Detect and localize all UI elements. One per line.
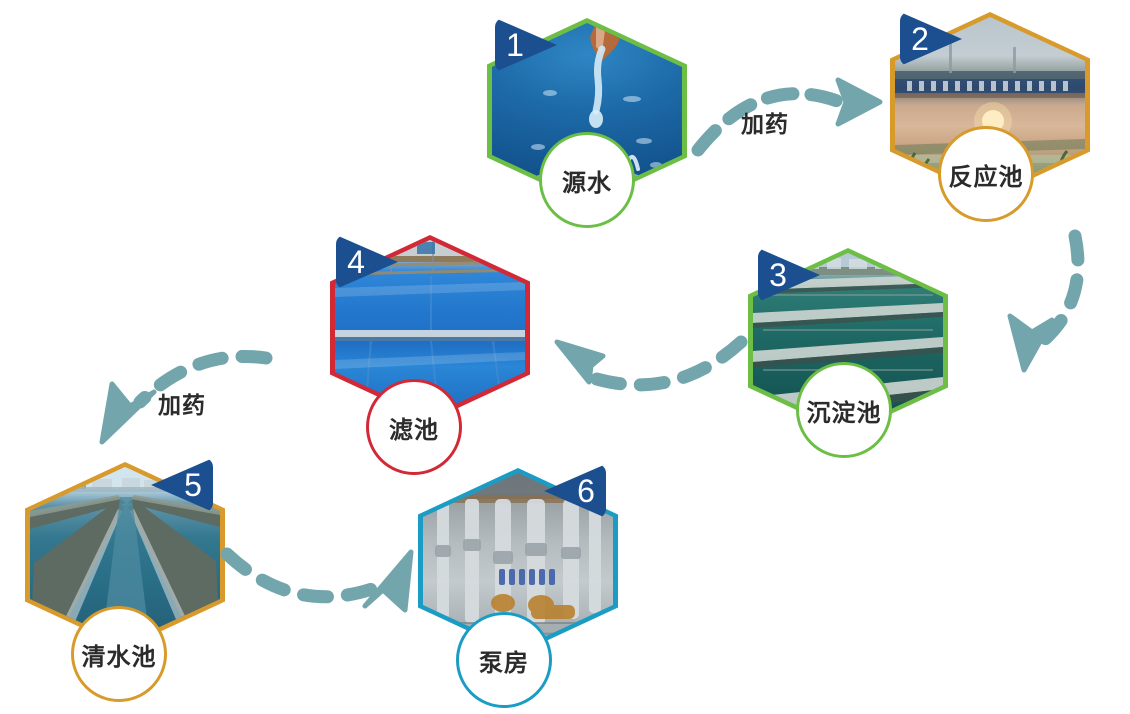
step-badge-6: 6 bbox=[544, 464, 606, 518]
step-label-circle-2: 反应池 bbox=[938, 126, 1034, 222]
connector-arrow-1-to-2 bbox=[690, 50, 890, 160]
step-label-text: 沉淀池 bbox=[807, 393, 882, 428]
step-number: 2 bbox=[900, 12, 940, 66]
connector-label-dosing-2: 加药 bbox=[158, 386, 206, 420]
step-label-text: 泵房 bbox=[479, 643, 529, 678]
step-label-circle-1: 源水 bbox=[539, 132, 635, 228]
step-label-circle-5: 清水池 bbox=[71, 606, 167, 702]
process-step-2[interactable]: 2 反应池 bbox=[890, 12, 1090, 222]
connector-arrow-3-to-4 bbox=[545, 320, 755, 420]
connector-arrow-2-to-3 bbox=[1000, 228, 1110, 388]
step-badge-4: 4 bbox=[336, 235, 398, 289]
step-label-text: 反应池 bbox=[949, 157, 1024, 192]
step-label-circle-4: 滤池 bbox=[366, 379, 462, 475]
process-flow-diagram: 加药 加药 bbox=[0, 0, 1130, 714]
step-number: 1 bbox=[495, 18, 535, 72]
process-step-5[interactable]: 5 清水池 bbox=[25, 462, 225, 672]
step-badge-3: 3 bbox=[758, 248, 820, 302]
process-step-1[interactable]: 1 源水 bbox=[487, 18, 687, 228]
step-label-text: 源水 bbox=[562, 163, 612, 198]
connector-arrow-5-to-6 bbox=[215, 528, 420, 633]
step-label-circle-3: 沉淀池 bbox=[796, 362, 892, 458]
process-step-4[interactable]: 4 滤池 bbox=[330, 235, 530, 445]
step-number: 6 bbox=[566, 464, 606, 518]
process-step-3[interactable]: 3 沉淀池 bbox=[748, 248, 948, 458]
process-step-6[interactable]: 6 泵房 bbox=[418, 468, 618, 678]
step-badge-1: 1 bbox=[495, 18, 557, 72]
connector-label-dosing-1: 加药 bbox=[741, 105, 789, 139]
step-badge-5: 5 bbox=[151, 458, 213, 512]
step-label-text: 滤池 bbox=[389, 410, 439, 445]
step-badge-2: 2 bbox=[900, 12, 962, 66]
step-number: 5 bbox=[173, 458, 213, 512]
step-number: 4 bbox=[336, 235, 376, 289]
step-number: 3 bbox=[758, 248, 798, 302]
step-label-circle-6: 泵房 bbox=[456, 612, 552, 708]
step-label-text: 清水池 bbox=[82, 637, 157, 672]
